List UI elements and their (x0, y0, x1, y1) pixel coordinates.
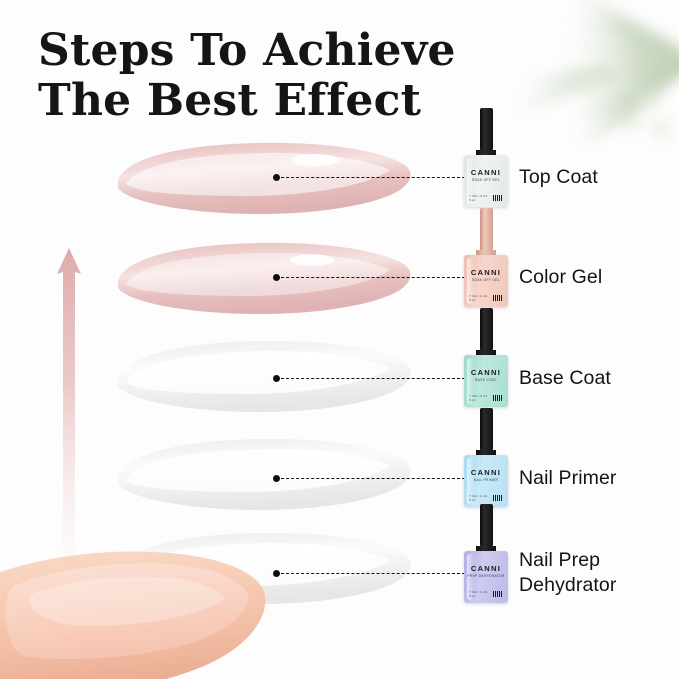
bottle-base-coat[interactable]: CANNI BASE COAT 7.3ml / 0.24 fl.oz (464, 308, 508, 407)
bottle-color-gel[interactable]: CANNI SOAK OFF GEL 7.3ml / 0.24 fl.oz (464, 208, 508, 307)
bottle-nail-primer[interactable]: CANNI NAIL PRIMER 7.3ml / 0.24 fl.oz (464, 408, 508, 507)
bottle-cap (480, 108, 493, 150)
barcode-icon (493, 591, 503, 597)
bottle-footer: 7.3ml / 0.24 fl.oz (469, 394, 503, 402)
nail-layer-color-gel (112, 240, 422, 328)
step-label-top-coat: Top Coat (519, 165, 598, 190)
bottle-volume: 7.3ml / 0.24 fl.oz (469, 494, 493, 502)
step-label-nail-prep-dehydrator: Nail Prep Dehydrator (519, 548, 616, 598)
leader-line-nail-primer (273, 473, 465, 483)
barcode-icon (493, 395, 503, 401)
barcode-icon (493, 195, 503, 201)
leader-dot (273, 475, 280, 482)
step-label-color-gel: Color Gel (519, 265, 602, 290)
bottle-brand-label: CANNI (464, 564, 508, 573)
bottle-body: CANNI PREP DEHYDRATOR 7.3ml / 0.24 fl.oz (464, 551, 508, 603)
step-label-nail-primer: Nail Primer (519, 466, 617, 491)
bottle-body: CANNI NAIL PRIMER 7.3ml / 0.24 fl.oz (464, 455, 508, 507)
bottle-footer: 7.3ml / 0.24 fl.oz (469, 294, 503, 302)
bottle-body: CANNI BASE COAT 7.3ml / 0.24 fl.oz (464, 355, 508, 407)
bottle-sub-label: BASE COAT (465, 378, 507, 382)
leader-line-nail-prep-dehydrator (273, 568, 465, 578)
step-label-base-coat: Base Coat (519, 366, 611, 391)
upward-progress-arrow (56, 248, 82, 578)
bottle-footer: 7.3ml / 0.24 fl.oz (469, 194, 503, 202)
product-infographic: Steps To Achieve The Best Effect (0, 0, 679, 679)
bottle-volume: 7.3ml / 0.24 fl.oz (469, 194, 493, 202)
bottle-cap (480, 408, 493, 450)
bottle-brand-label: CANNI (464, 168, 508, 177)
bottle-cap (480, 208, 493, 250)
bottle-brand-label: CANNI (464, 468, 508, 477)
leader-dot (273, 174, 280, 181)
bottle-cap (480, 504, 493, 546)
leader-line-top-coat (273, 172, 465, 182)
bottle-volume: 7.3ml / 0.24 fl.oz (469, 590, 493, 598)
leader-dash (281, 573, 465, 574)
leader-dot (273, 375, 280, 382)
bottle-top-coat[interactable]: CANNI SOAK OFF GEL 7.3ml / 0.24 fl.oz (464, 108, 508, 207)
leader-dash (281, 378, 465, 379)
bottle-sub-label: PREP DEHYDRATOR (465, 574, 507, 578)
leader-line-color-gel (273, 272, 465, 282)
barcode-icon (493, 295, 503, 301)
bottle-nail-prep-dehydrator[interactable]: CANNI PREP DEHYDRATOR 7.3ml / 0.24 fl.oz (464, 504, 508, 603)
bottle-brand-label: CANNI (464, 268, 508, 277)
bottle-sub-label: SOAK OFF GEL (465, 178, 507, 182)
bottle-footer: 7.3ml / 0.24 fl.oz (469, 494, 503, 502)
bottle-footer: 7.3ml / 0.24 fl.oz (469, 590, 503, 598)
bottle-brand-label: CANNI (464, 368, 508, 377)
bottle-body: CANNI SOAK OFF GEL 7.3ml / 0.24 fl.oz (464, 255, 508, 307)
bottle-sub-label: NAIL PRIMER (465, 478, 507, 482)
nail-layer-top-coat (112, 140, 422, 228)
bottle-volume: 7.3ml / 0.24 fl.oz (469, 394, 493, 402)
bottle-sub-label: SOAK OFF GEL (465, 278, 507, 282)
leader-dot (273, 570, 280, 577)
barcode-icon (493, 495, 503, 501)
finger-with-natural-nail (0, 525, 320, 679)
bottle-body: CANNI SOAK OFF GEL 7.3ml / 0.24 fl.oz (464, 155, 508, 207)
leader-line-base-coat (273, 373, 465, 383)
bottle-volume: 7.3ml / 0.24 fl.oz (469, 294, 493, 302)
leader-dash (281, 277, 465, 278)
leader-dash (281, 478, 465, 479)
page-title: Steps To Achieve The Best Effect (38, 26, 458, 125)
leader-dot (273, 274, 280, 281)
bottle-cap (480, 308, 493, 350)
leader-dash (281, 177, 465, 178)
